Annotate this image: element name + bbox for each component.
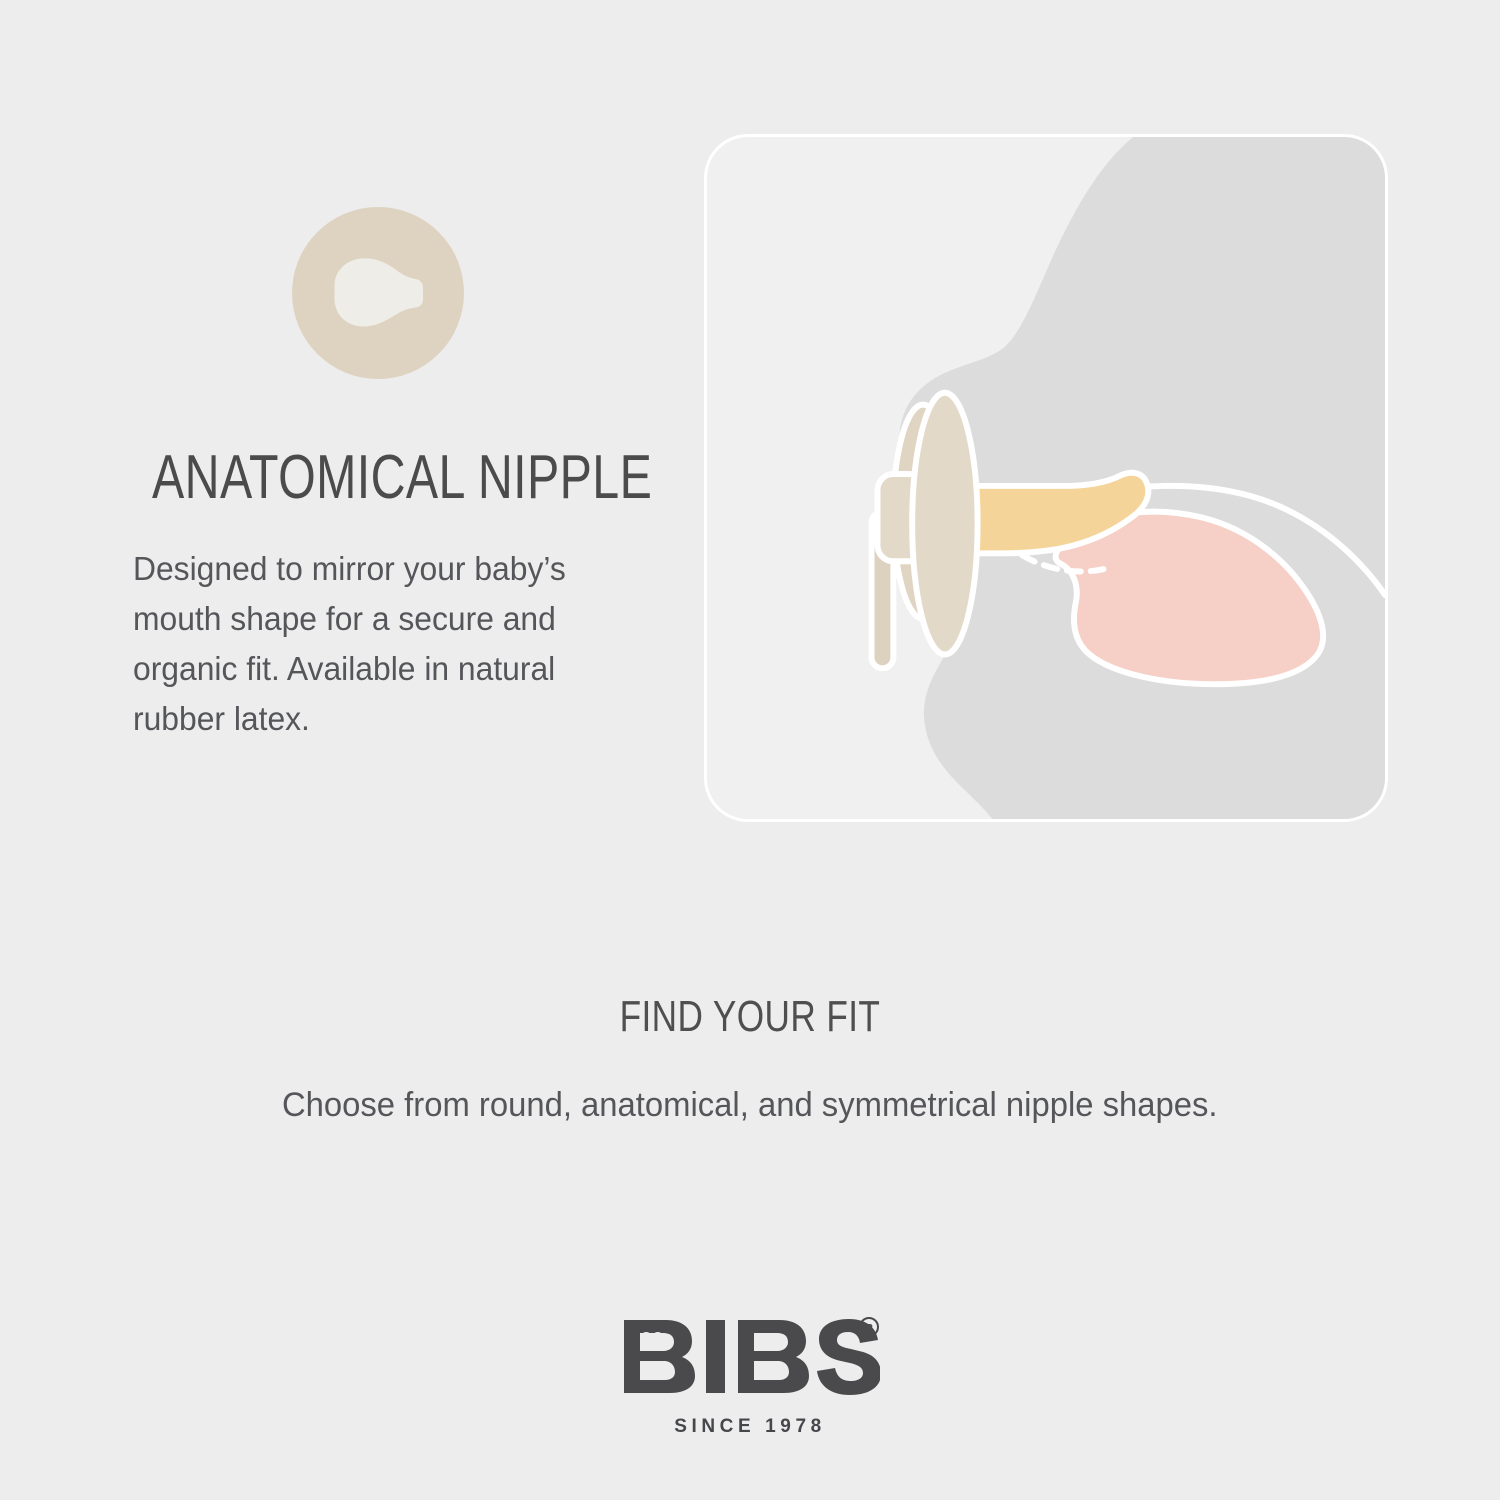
find-your-fit-subtitle-text: Choose from round, anatomical, and symme… <box>282 1088 1218 1122</box>
brand-tagline: SINCE 1978 <box>0 1416 1500 1438</box>
bibs-letter-b1 <box>624 1320 695 1393</box>
bibs-letter-i <box>706 1320 725 1393</box>
find-your-fit-subtitle: Choose from round, anatomical, and symme… <box>0 1088 1500 1122</box>
bibs-letter-b2 <box>738 1320 809 1393</box>
find-your-fit-title: FIND YOUR FIT <box>0 995 1500 1039</box>
pacifier-shield <box>912 393 977 655</box>
feature-title: ANATOMICAL NIPPLE <box>152 447 636 509</box>
brand-logo: R SINCE 1978 <box>0 1315 1500 1438</box>
illustration-card <box>704 134 1388 822</box>
find-your-fit-title-text: FIND YOUR FIT <box>620 995 881 1039</box>
bibs-wordmark: R <box>620 1315 880 1395</box>
product-feature-page: ANATOMICAL NIPPLE Designed to mirror you… <box>0 0 1500 1500</box>
anatomical-nipple-icon <box>292 207 464 379</box>
feature-description: Designed to mirror your baby’s mouth sha… <box>133 545 651 745</box>
svg-text:R: R <box>865 1323 873 1335</box>
